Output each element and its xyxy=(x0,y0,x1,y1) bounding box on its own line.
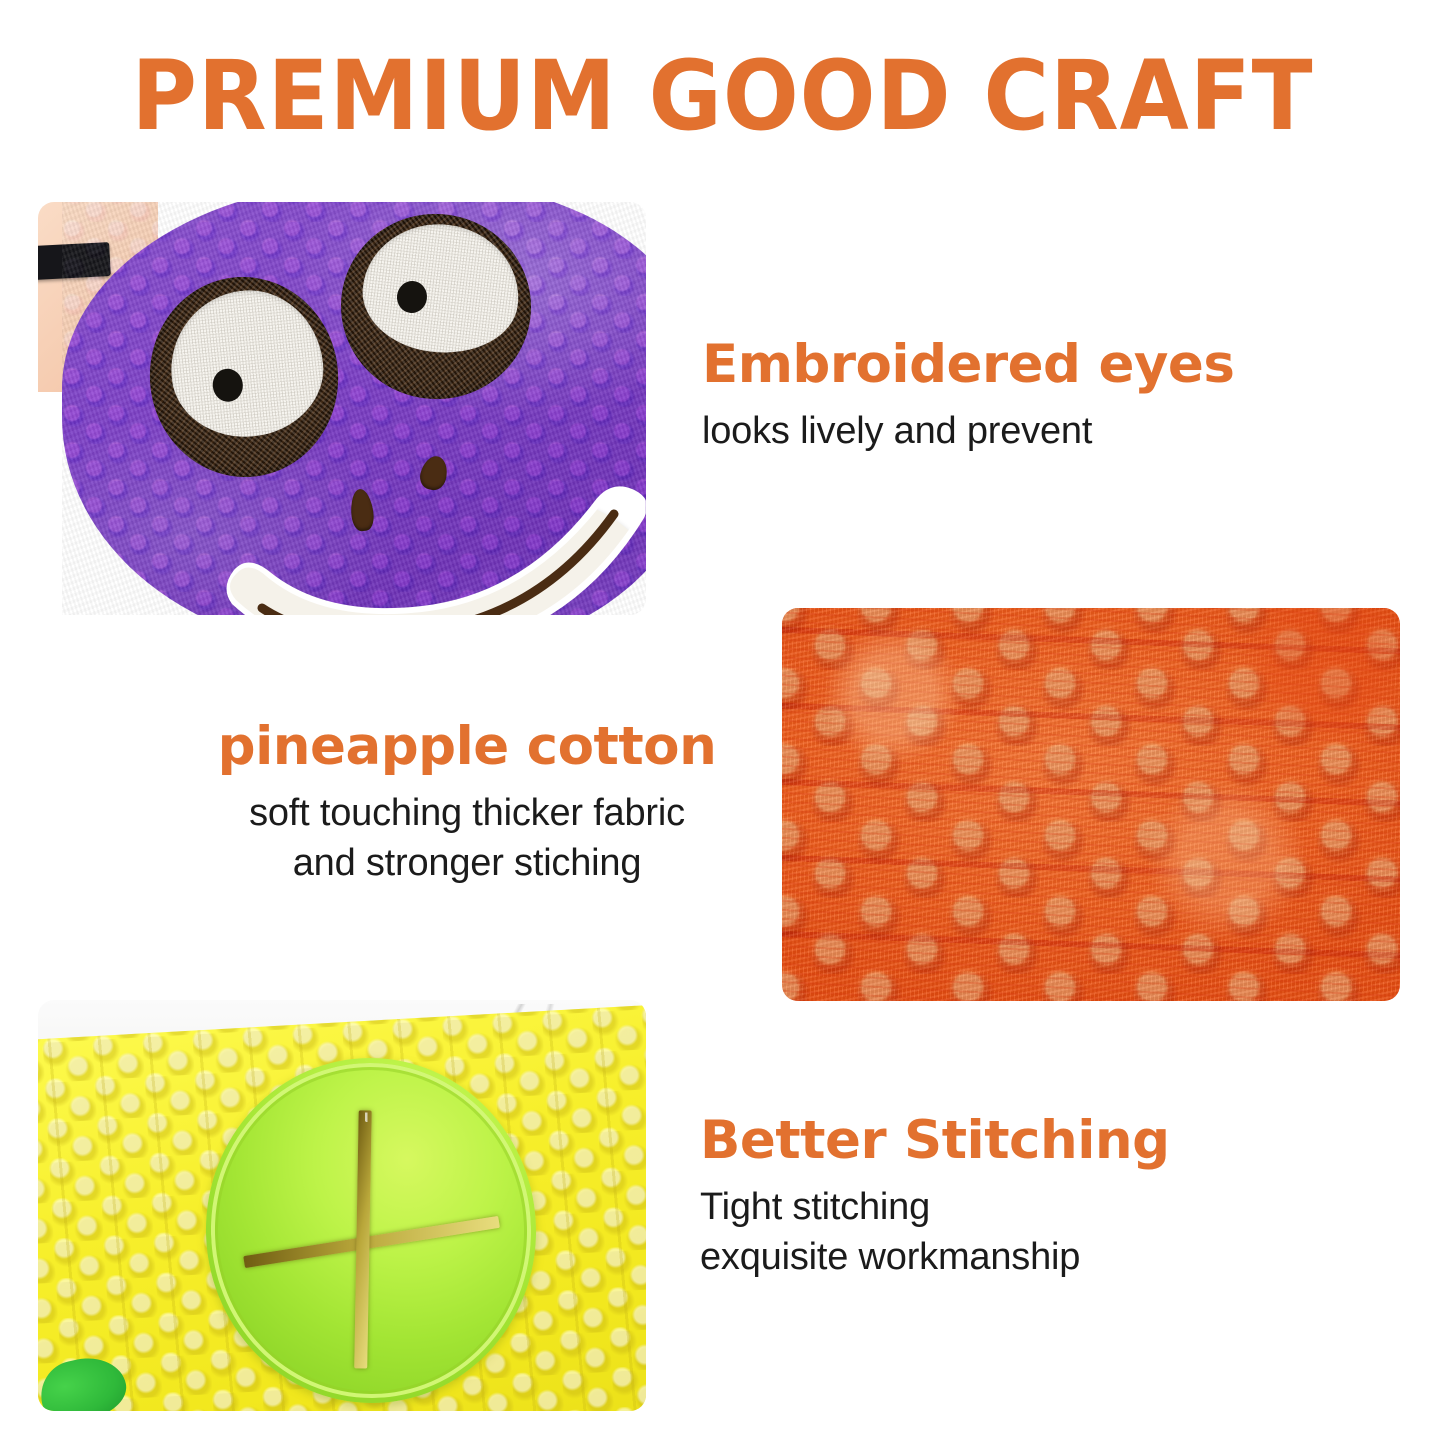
photo-inner xyxy=(38,1000,646,1411)
fabric-fluff-highlights xyxy=(782,608,1400,1001)
feature-heading: pineapple cotton xyxy=(186,718,748,775)
feature-body: Tight stitching exquisite workmanship xyxy=(700,1183,1170,1282)
feature-heading: Better Stitching xyxy=(700,1112,1170,1169)
feature-text-embroidered-eyes: Embroidered eyes looks lively and preven… xyxy=(702,336,1234,457)
feature-body: looks lively and prevent xyxy=(702,407,1234,456)
embroidered-eyes-photo xyxy=(38,202,646,615)
feature-text-better-stitching: Better Stitching Tight stitching exquisi… xyxy=(700,1112,1170,1282)
photo-inner xyxy=(782,608,1400,1001)
photo-inner xyxy=(38,202,646,615)
page-title: PREMIUM GOOD CRAFT xyxy=(51,48,1395,144)
feature-body: soft touching thicker fabric and stronge… xyxy=(186,789,748,888)
pineapple-cotton-photo xyxy=(782,608,1400,1001)
better-stitching-photo xyxy=(38,1000,646,1411)
embroidered-smile xyxy=(226,480,646,615)
smile-stitch-line xyxy=(226,480,646,615)
feature-heading: Embroidered eyes xyxy=(702,336,1234,393)
feature-text-pineapple-cotton: pineapple cotton soft touching thicker f… xyxy=(186,718,748,888)
